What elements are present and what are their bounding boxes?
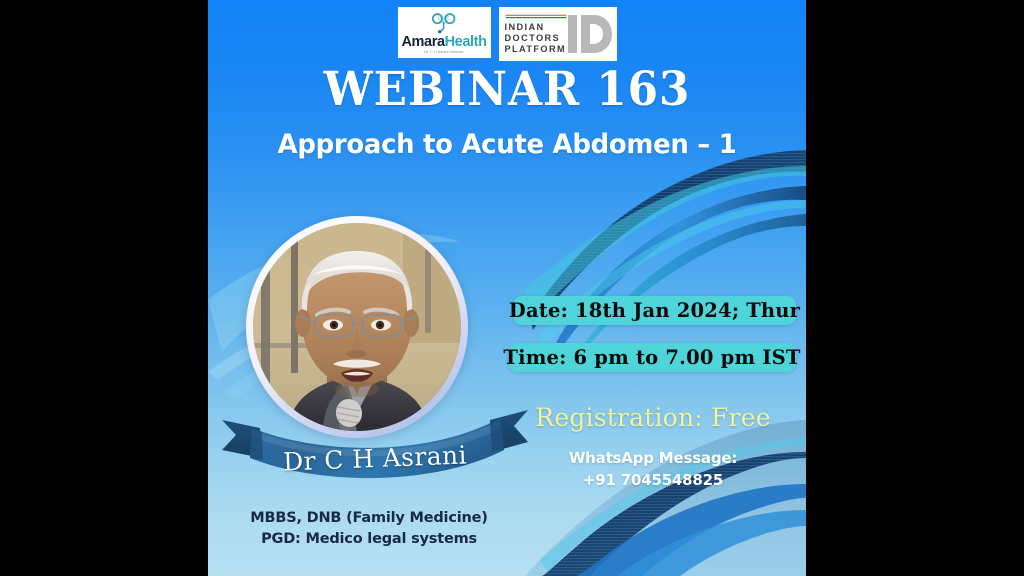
avatar [253, 223, 461, 431]
time-badge: Time: 6 pm to 7.00 pm IST [508, 343, 796, 372]
indian-doctors-platform-logo: INDIAN DOCTORS PLATFORM [499, 7, 617, 61]
registration-status: Registration: Free [508, 403, 798, 432]
logo-row: AmaraHealth Dr. C H Asrani initiative IN… [208, 7, 806, 61]
whatsapp-contact: WhatsApp Message: +91 7045548825 [508, 447, 798, 491]
tricolor-bar [505, 14, 567, 19]
speaker-credentials: MBBS, DNB (Family Medicine) PGD: Medico … [208, 508, 530, 550]
letterbox-right [806, 0, 1024, 576]
amara-health-logo: AmaraHealth Dr. C H Asrani initiative [398, 7, 491, 58]
heart-infinity-icon [427, 12, 461, 34]
idp-line-1: INDIAN [505, 22, 611, 33]
date-badge: Date: 18th Jan 2024; Thur [513, 296, 796, 325]
letterbox-left [0, 0, 208, 576]
poster-screen: AmaraHealth Dr. C H Asrani initiative IN… [0, 0, 1024, 576]
amara-tagline: Dr. C H Asrani initiative [424, 50, 463, 54]
whatsapp-label: WhatsApp Message: [508, 447, 798, 469]
amara-word-secondary: Health [445, 34, 487, 50]
page-subtitle: Approach to Acute Abdomen – 1 [220, 131, 794, 158]
page-title: WEBINAR 163 [229, 66, 785, 113]
amara-word-primary: Amara [401, 34, 444, 50]
idp-line-3: PLATFORM [505, 44, 611, 55]
amara-health-wordmark: AmaraHealth [401, 35, 486, 50]
idp-line-2: DOCTORS [505, 33, 611, 44]
credential-line-2: PGD: Medico legal systems [208, 529, 530, 550]
speaker-name-ribbon: Dr C H Asrani [222, 404, 528, 488]
whatsapp-number[interactable]: +91 7045548825 [508, 469, 798, 491]
webinar-poster: AmaraHealth Dr. C H Asrani initiative IN… [208, 0, 806, 576]
credential-line-1: MBBS, DNB (Family Medicine) [208, 508, 530, 529]
